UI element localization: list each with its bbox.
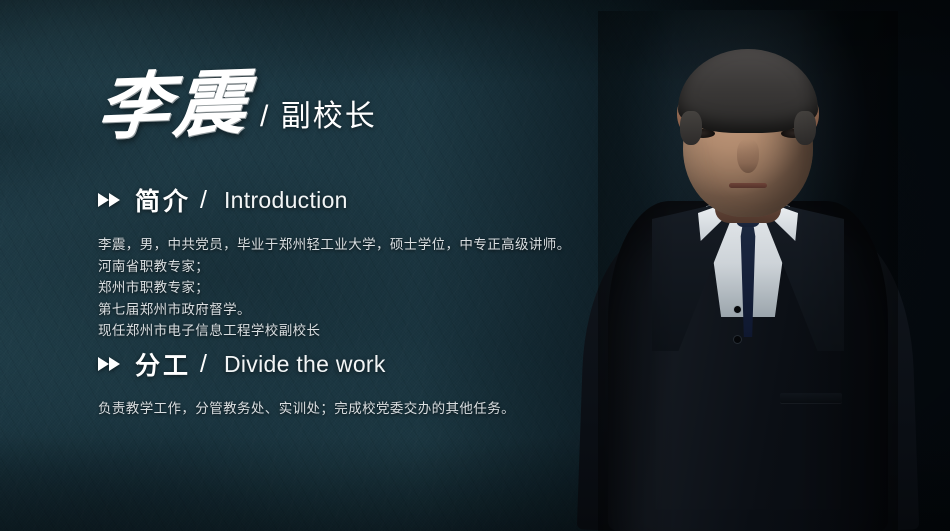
person-title: 副校长 bbox=[281, 100, 377, 133]
section-introduction-body: 李震，男，中共党员，毕业于郑州轻工业大学，硕士学位，中专正高级讲师。 河南省职教… bbox=[98, 234, 571, 342]
section-introduction-header: 简介 / Introduction bbox=[98, 182, 571, 218]
jacket-pocket-flap bbox=[780, 393, 842, 403]
section-introduction-label-en: Introduction bbox=[224, 187, 348, 214]
section-duties-header: 分工 / Divide the work bbox=[98, 346, 515, 382]
mouth bbox=[729, 183, 767, 188]
section-introduction-label-cn: 简介 bbox=[135, 182, 191, 218]
jacket-button-top bbox=[734, 306, 741, 313]
jacket-button-bottom bbox=[734, 336, 741, 343]
person-title-group: / 副校长 bbox=[260, 102, 377, 141]
hair bbox=[678, 49, 818, 133]
text-content: 李震 / 副校长 简介 / Introduction 李震，男，中共党员，毕业于… bbox=[0, 0, 600, 531]
fast-forward-icon bbox=[98, 192, 124, 208]
intro-line: 河南省职教专家； bbox=[98, 256, 571, 278]
nose bbox=[737, 139, 759, 173]
intro-line: 郑州市职教专家； bbox=[98, 277, 571, 299]
intro-line: 李震，男，中共党员，毕业于郑州轻工业大学，硕士学位，中专正高级讲师。 bbox=[98, 234, 571, 256]
intro-line: 第七届郑州市政府督学。 bbox=[98, 299, 571, 321]
portrait bbox=[550, 0, 950, 531]
section-introduction-separator: / bbox=[200, 186, 207, 215]
section-duties-label-en: Divide the work bbox=[224, 351, 386, 378]
person-name: 李震 bbox=[95, 69, 254, 143]
fast-forward-icon bbox=[98, 356, 124, 372]
section-duties-label-cn: 分工 bbox=[135, 346, 191, 382]
section-duties-body: 负责教学工作，分管教务处、实训处；完成校党委交办的其他任务。 bbox=[98, 398, 515, 420]
name-title-separator: / bbox=[260, 100, 270, 133]
section-introduction: 简介 / Introduction 李震，男，中共党员，毕业于郑州轻工业大学，硕… bbox=[98, 182, 571, 342]
profile-banner: 李震 / 副校长 简介 / Introduction 李震，男，中共党员，毕业于… bbox=[0, 0, 950, 531]
name-heading: 李震 / 副校长 bbox=[98, 72, 377, 141]
intro-line: 现任郑州市电子信息工程学校副校长 bbox=[98, 320, 571, 342]
duty-line: 负责教学工作，分管教务处、实训处；完成校党委交办的其他任务。 bbox=[98, 398, 515, 420]
section-duties-separator: / bbox=[200, 350, 207, 379]
section-duties: 分工 / Divide the work 负责教学工作，分管教务处、实训处；完成… bbox=[98, 346, 515, 420]
portrait-figure bbox=[598, 11, 898, 531]
